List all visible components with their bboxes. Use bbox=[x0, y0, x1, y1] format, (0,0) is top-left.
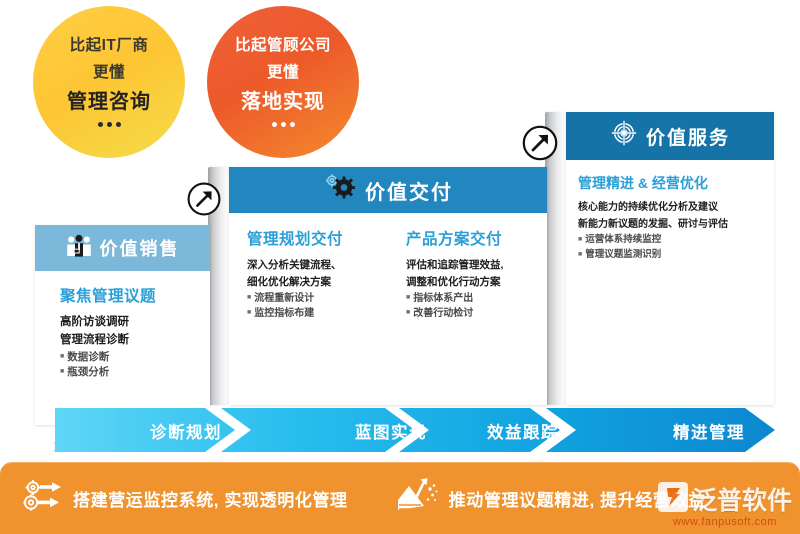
ellipsis-dots bbox=[98, 122, 121, 127]
banner-item-text: 搭建营运监控系统, 实现透明化管理 bbox=[73, 486, 348, 511]
column-bullet: ■管理议题监测识别 bbox=[578, 248, 774, 263]
circle-line-2: 更懂 bbox=[267, 64, 299, 82]
gears-arrows-icon bbox=[22, 477, 64, 520]
value-service-card-title: 价值服务 bbox=[646, 123, 730, 150]
bullet-square-icon: ■ bbox=[578, 248, 582, 261]
process-step-label: 效益跟踪 bbox=[487, 419, 559, 443]
value-delivery-card-title: 价值交付 bbox=[365, 176, 453, 205]
delivery-column-product: 产品方案交付 评估和追踪管理效益, 调整和优化行动方案 ■指标体系产出 ■改善行… bbox=[388, 227, 547, 405]
circle-arrow-up-right-icon bbox=[521, 124, 559, 162]
people-group-icon bbox=[66, 234, 92, 263]
target-radar-icon bbox=[610, 120, 638, 152]
process-step-label: 蓝图实现 bbox=[355, 419, 427, 443]
process-step-label: 精进管理 bbox=[673, 419, 745, 443]
bullet-square-icon: ■ bbox=[578, 233, 582, 246]
bullet-square-icon: ■ bbox=[406, 291, 410, 304]
column-line: 高阶访谈调研 bbox=[60, 314, 210, 332]
column-bullet: ■改善行动检讨 bbox=[406, 306, 547, 321]
consulting-circle: 比起管顾公司 更懂 落地实现 bbox=[207, 6, 359, 158]
circle-line-3: 落地实现 bbox=[241, 91, 325, 113]
column-subtitle: 产品方案交付 bbox=[406, 227, 547, 249]
column-bullet: ■指标体系产出 bbox=[406, 291, 547, 306]
value-sales-card-title: 价值销售 bbox=[100, 235, 180, 261]
it-vendor-circle: 比起IT厂商 更懂 管理咨询 bbox=[33, 6, 185, 158]
column-subtitle: 管理规划交付 bbox=[247, 227, 388, 249]
bullet-square-icon: ■ bbox=[60, 365, 64, 378]
gears-icon bbox=[323, 173, 357, 207]
column-line: 调整和优化行动方案 bbox=[406, 274, 547, 291]
column-line: 管理流程诊断 bbox=[60, 332, 210, 350]
bullet-square-icon: ■ bbox=[247, 291, 251, 304]
ellipsis-dots bbox=[272, 122, 295, 127]
banner-item: 搭建营运监控系统, 实现透明化管理 bbox=[22, 477, 348, 520]
column-line: 细化优化解决方案 bbox=[247, 274, 388, 291]
banner-item-text: 推动管理议题精进, 提升经营效益 bbox=[449, 486, 706, 511]
column-subtitle: 聚焦管理议题 bbox=[60, 284, 210, 306]
value-service-card[interactable]: 价值服务 管理精进 & 经营优化 核心能力的持续优化分析及建议 新能力新议题的发… bbox=[566, 112, 774, 405]
delivery-column-planning: 管理规划交付 深入分析关键流程、 细化优化解决方案 ■流程重新设计 ■监控指标布… bbox=[229, 227, 388, 405]
growth-chart-icon bbox=[394, 476, 440, 521]
bottom-banner: 搭建营运监控系统, 实现透明化管理 bbox=[0, 462, 800, 534]
chevron-trail-decoration bbox=[52, 440, 98, 458]
column-line: 评估和追踪管理效益, bbox=[406, 257, 547, 274]
diagram-canvas: 比起IT厂商 更懂 管理咨询 比起管顾公司 更懂 落地实现 bbox=[0, 0, 800, 534]
bullet-square-icon: ■ bbox=[247, 306, 251, 319]
value-delivery-card[interactable]: 价值交付 管理规划交付 深入分析关键流程、 细化优化解决方案 ■流程重新设计 ■… bbox=[229, 167, 547, 405]
column-bullet: ■瓶颈分析 bbox=[60, 365, 210, 381]
value-service-card-body: 管理精进 & 经营优化 核心能力的持续优化分析及建议 新能力新议题的发掘、研讨与… bbox=[566, 160, 774, 405]
circle-arrow-up-right-icon bbox=[186, 181, 222, 217]
value-sales-card-header: 价值销售 bbox=[35, 225, 210, 271]
process-chevron-bar[interactable]: 诊断规划 蓝图实现 效益跟踪 精进管理 bbox=[55, 408, 775, 452]
circle-line-3: 管理咨询 bbox=[67, 91, 151, 113]
column-line: 深入分析关键流程、 bbox=[247, 257, 388, 274]
bullet-square-icon: ■ bbox=[60, 350, 64, 363]
bullet-square-icon: ■ bbox=[406, 306, 410, 319]
value-delivery-card-header: 价值交付 bbox=[229, 167, 547, 213]
value-delivery-card-body: 管理规划交付 深入分析关键流程、 细化优化解决方案 ■流程重新设计 ■监控指标布… bbox=[229, 213, 547, 405]
circle-line-1: 比起管顾公司 bbox=[235, 37, 331, 55]
column-line: 新能力新议题的发掘、研讨与评估 bbox=[578, 217, 774, 234]
column-bullet: ■运营体系持续监控 bbox=[578, 233, 774, 248]
value-sales-card[interactable]: 价值销售 聚焦管理议题 高阶访谈调研 管理流程诊断 ■数据诊断 ■瓶颈分析 bbox=[35, 225, 210, 425]
value-sales-card-body: 聚焦管理议题 高阶访谈调研 管理流程诊断 ■数据诊断 ■瓶颈分析 bbox=[35, 271, 210, 425]
circle-line-1: 比起IT厂商 bbox=[70, 37, 149, 55]
column-line: 核心能力的持续优化分析及建议 bbox=[578, 200, 774, 217]
value-service-card-header: 价值服务 bbox=[566, 112, 774, 160]
process-step-label: 诊断规划 bbox=[150, 419, 222, 443]
column-bullet: ■监控指标布建 bbox=[247, 306, 388, 321]
column-subtitle: 管理精进 & 经营优化 bbox=[578, 173, 774, 193]
banner-item: 推动管理议题精进, 提升经营效益 bbox=[394, 476, 706, 521]
column-bullet: ■流程重新设计 bbox=[247, 291, 388, 306]
column-bullet: ■数据诊断 bbox=[60, 350, 210, 366]
circle-line-2: 更懂 bbox=[93, 64, 125, 82]
